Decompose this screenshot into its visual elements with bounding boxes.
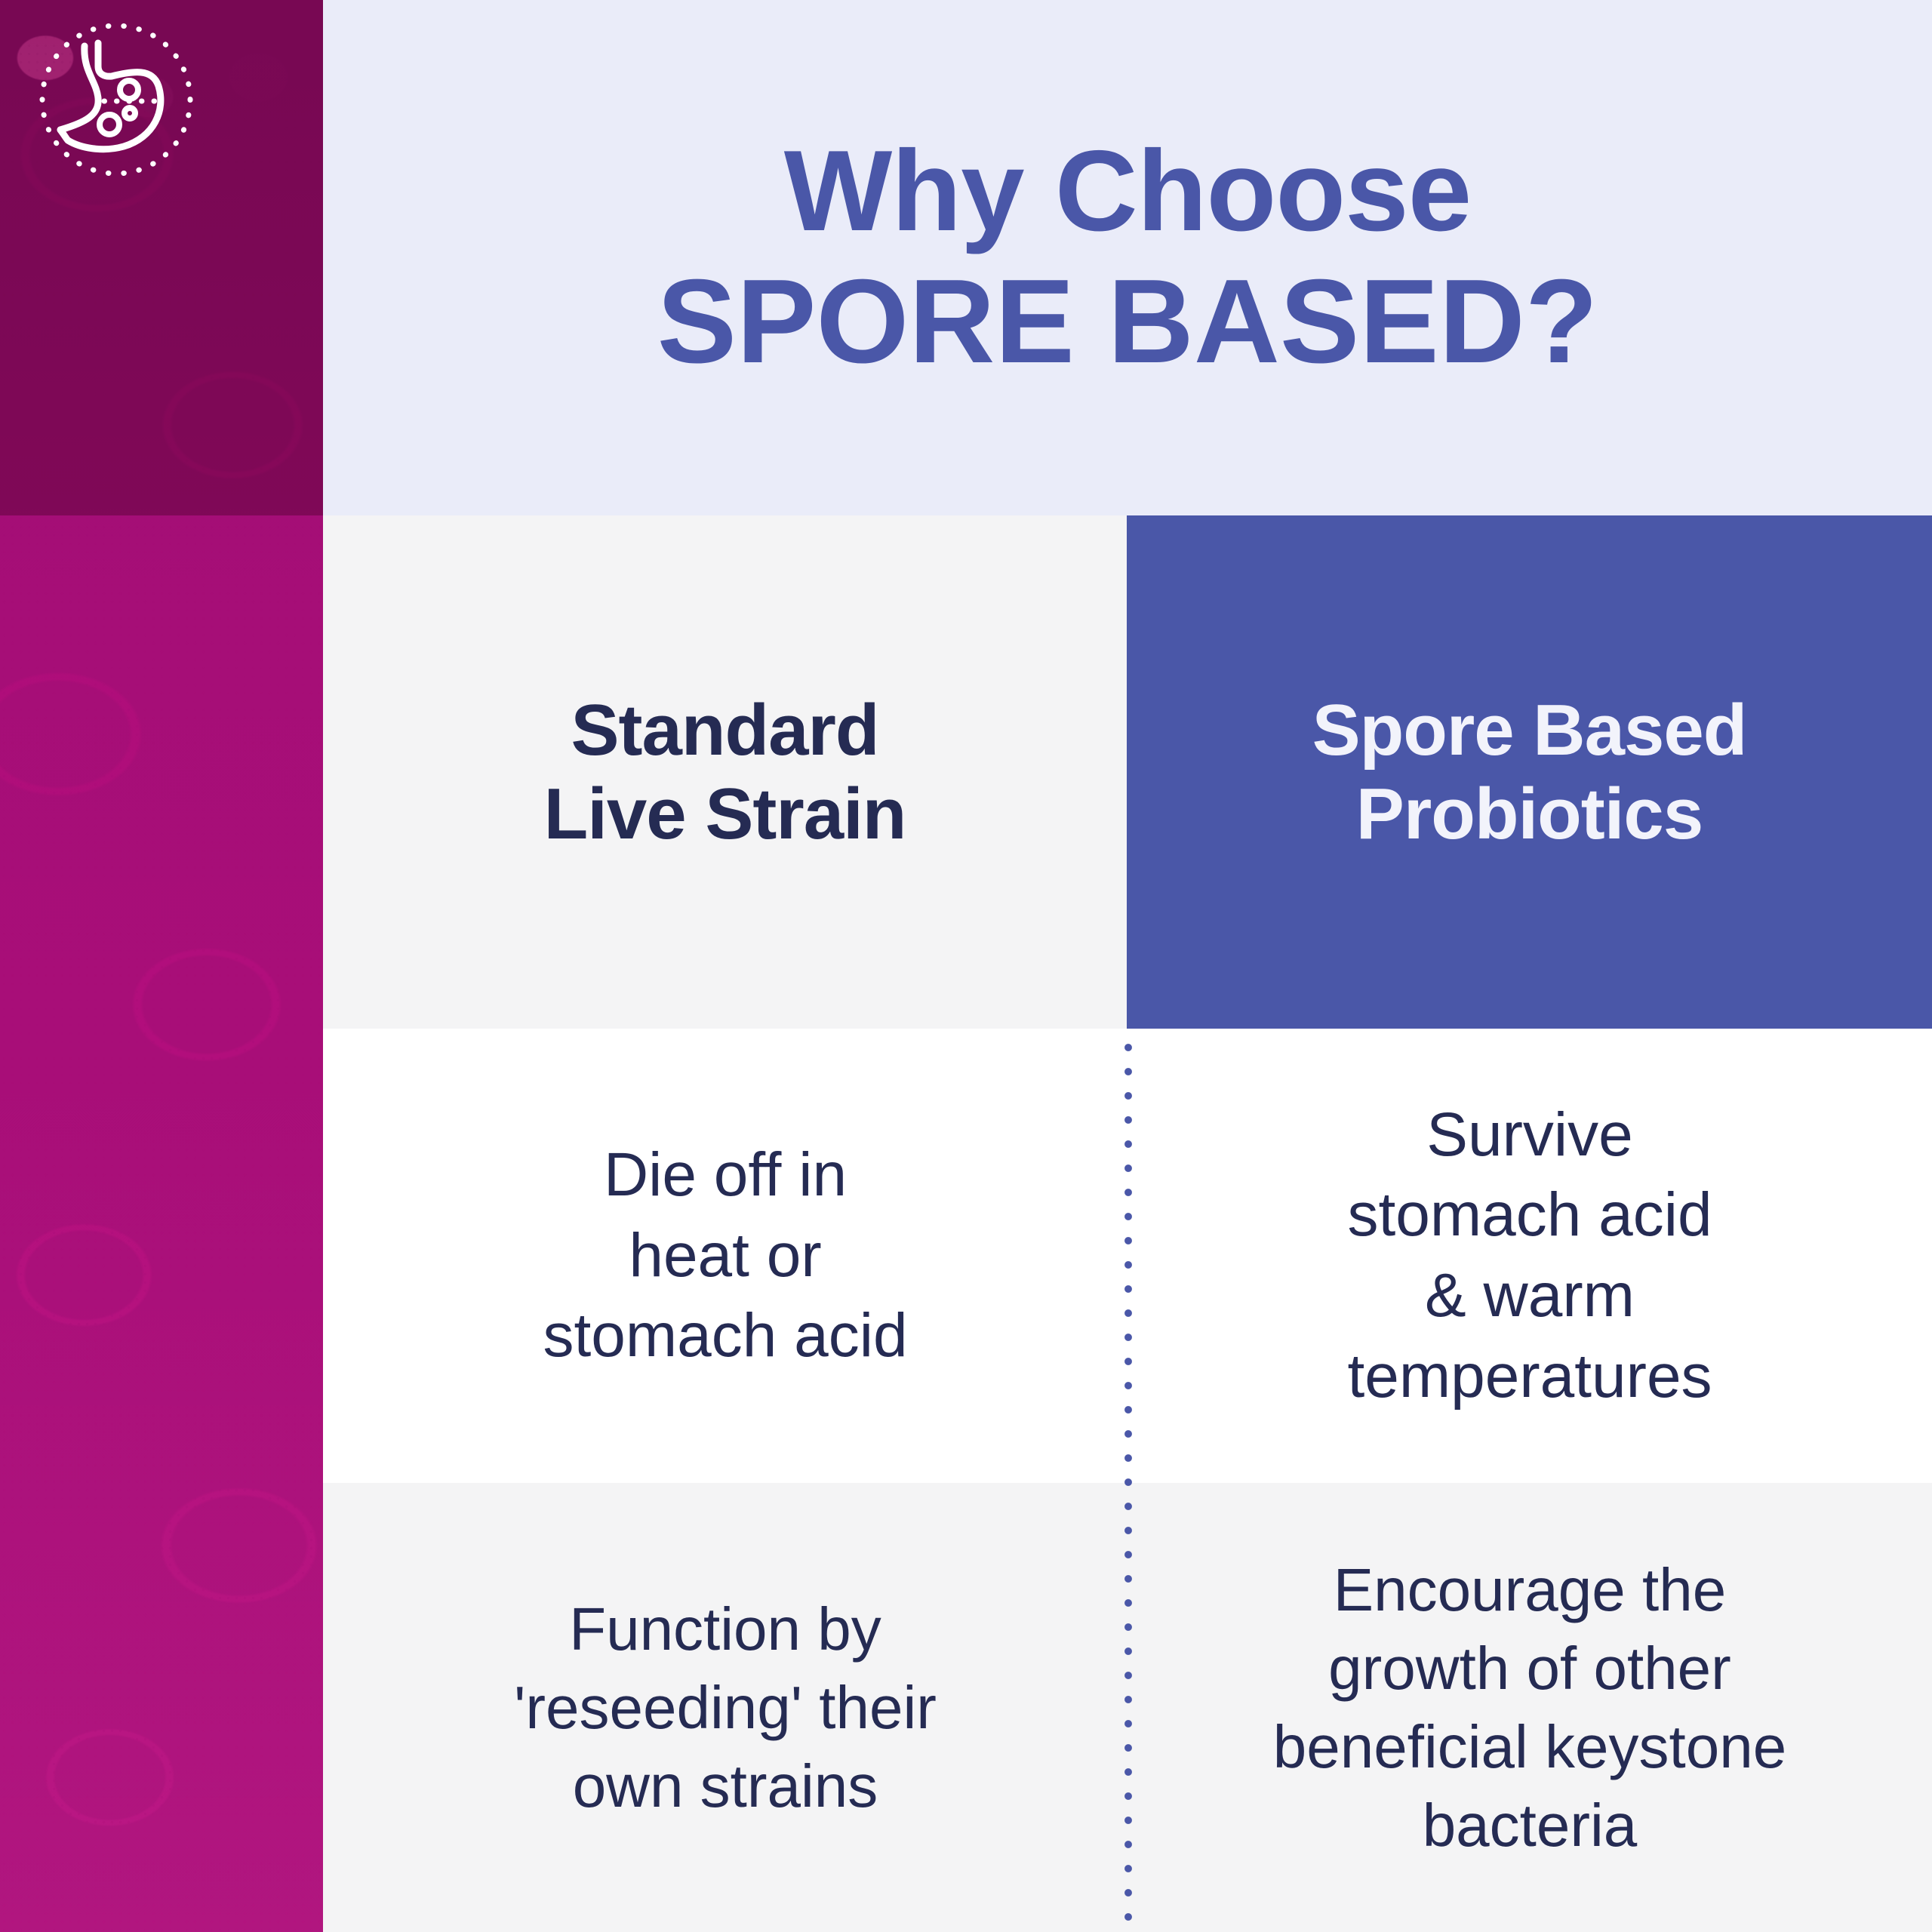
column-header-standard: Standard Live Strain	[323, 515, 1127, 1029]
cell-standard-row2: Function by 'reseeding' their own strain…	[323, 1483, 1128, 1932]
cell-spore-row1: Survive stomach acid & warm temperatures	[1128, 1029, 1932, 1483]
page-title-line2: SPORE BASED?	[657, 255, 1598, 389]
cell-standard-row1: Die off in heat or stomach acid	[323, 1029, 1128, 1483]
sidebar-image-column	[0, 0, 323, 1932]
cell-spore-row2-text: Encourage the growth of other beneficial…	[1273, 1551, 1786, 1865]
cell-standard-row2-text: Function by 'reseeding' their own strain…	[514, 1590, 937, 1826]
page-title-line1: Why Choose	[784, 127, 1471, 255]
cell-spore-row2: Encourage the growth of other beneficial…	[1128, 1483, 1932, 1932]
cell-spore-row1-text: Survive stomach acid & warm temperatures	[1347, 1095, 1712, 1417]
gut-tissue-texture	[0, 0, 323, 1932]
column-header-spore: Spore Based Probiotics	[1127, 515, 1932, 1029]
cell-standard-row1-text: Die off in heat or stomach acid	[543, 1135, 907, 1377]
stomach-icon	[33, 17, 199, 183]
infographic-canvas: Why Choose SPORE BASED? Standard Live St…	[0, 0, 1932, 1932]
column-header-spore-label: Spore Based Probiotics	[1312, 688, 1747, 857]
table-header-row: Standard Live Strain Spore Based Probiot…	[323, 515, 1932, 1029]
column-divider-dotted	[1123, 1035, 1134, 1932]
title-band: Why Choose SPORE BASED?	[323, 0, 1932, 515]
column-header-standard-label: Standard Live Strain	[544, 688, 906, 857]
content-area: Why Choose SPORE BASED? Standard Live St…	[323, 0, 1932, 1932]
